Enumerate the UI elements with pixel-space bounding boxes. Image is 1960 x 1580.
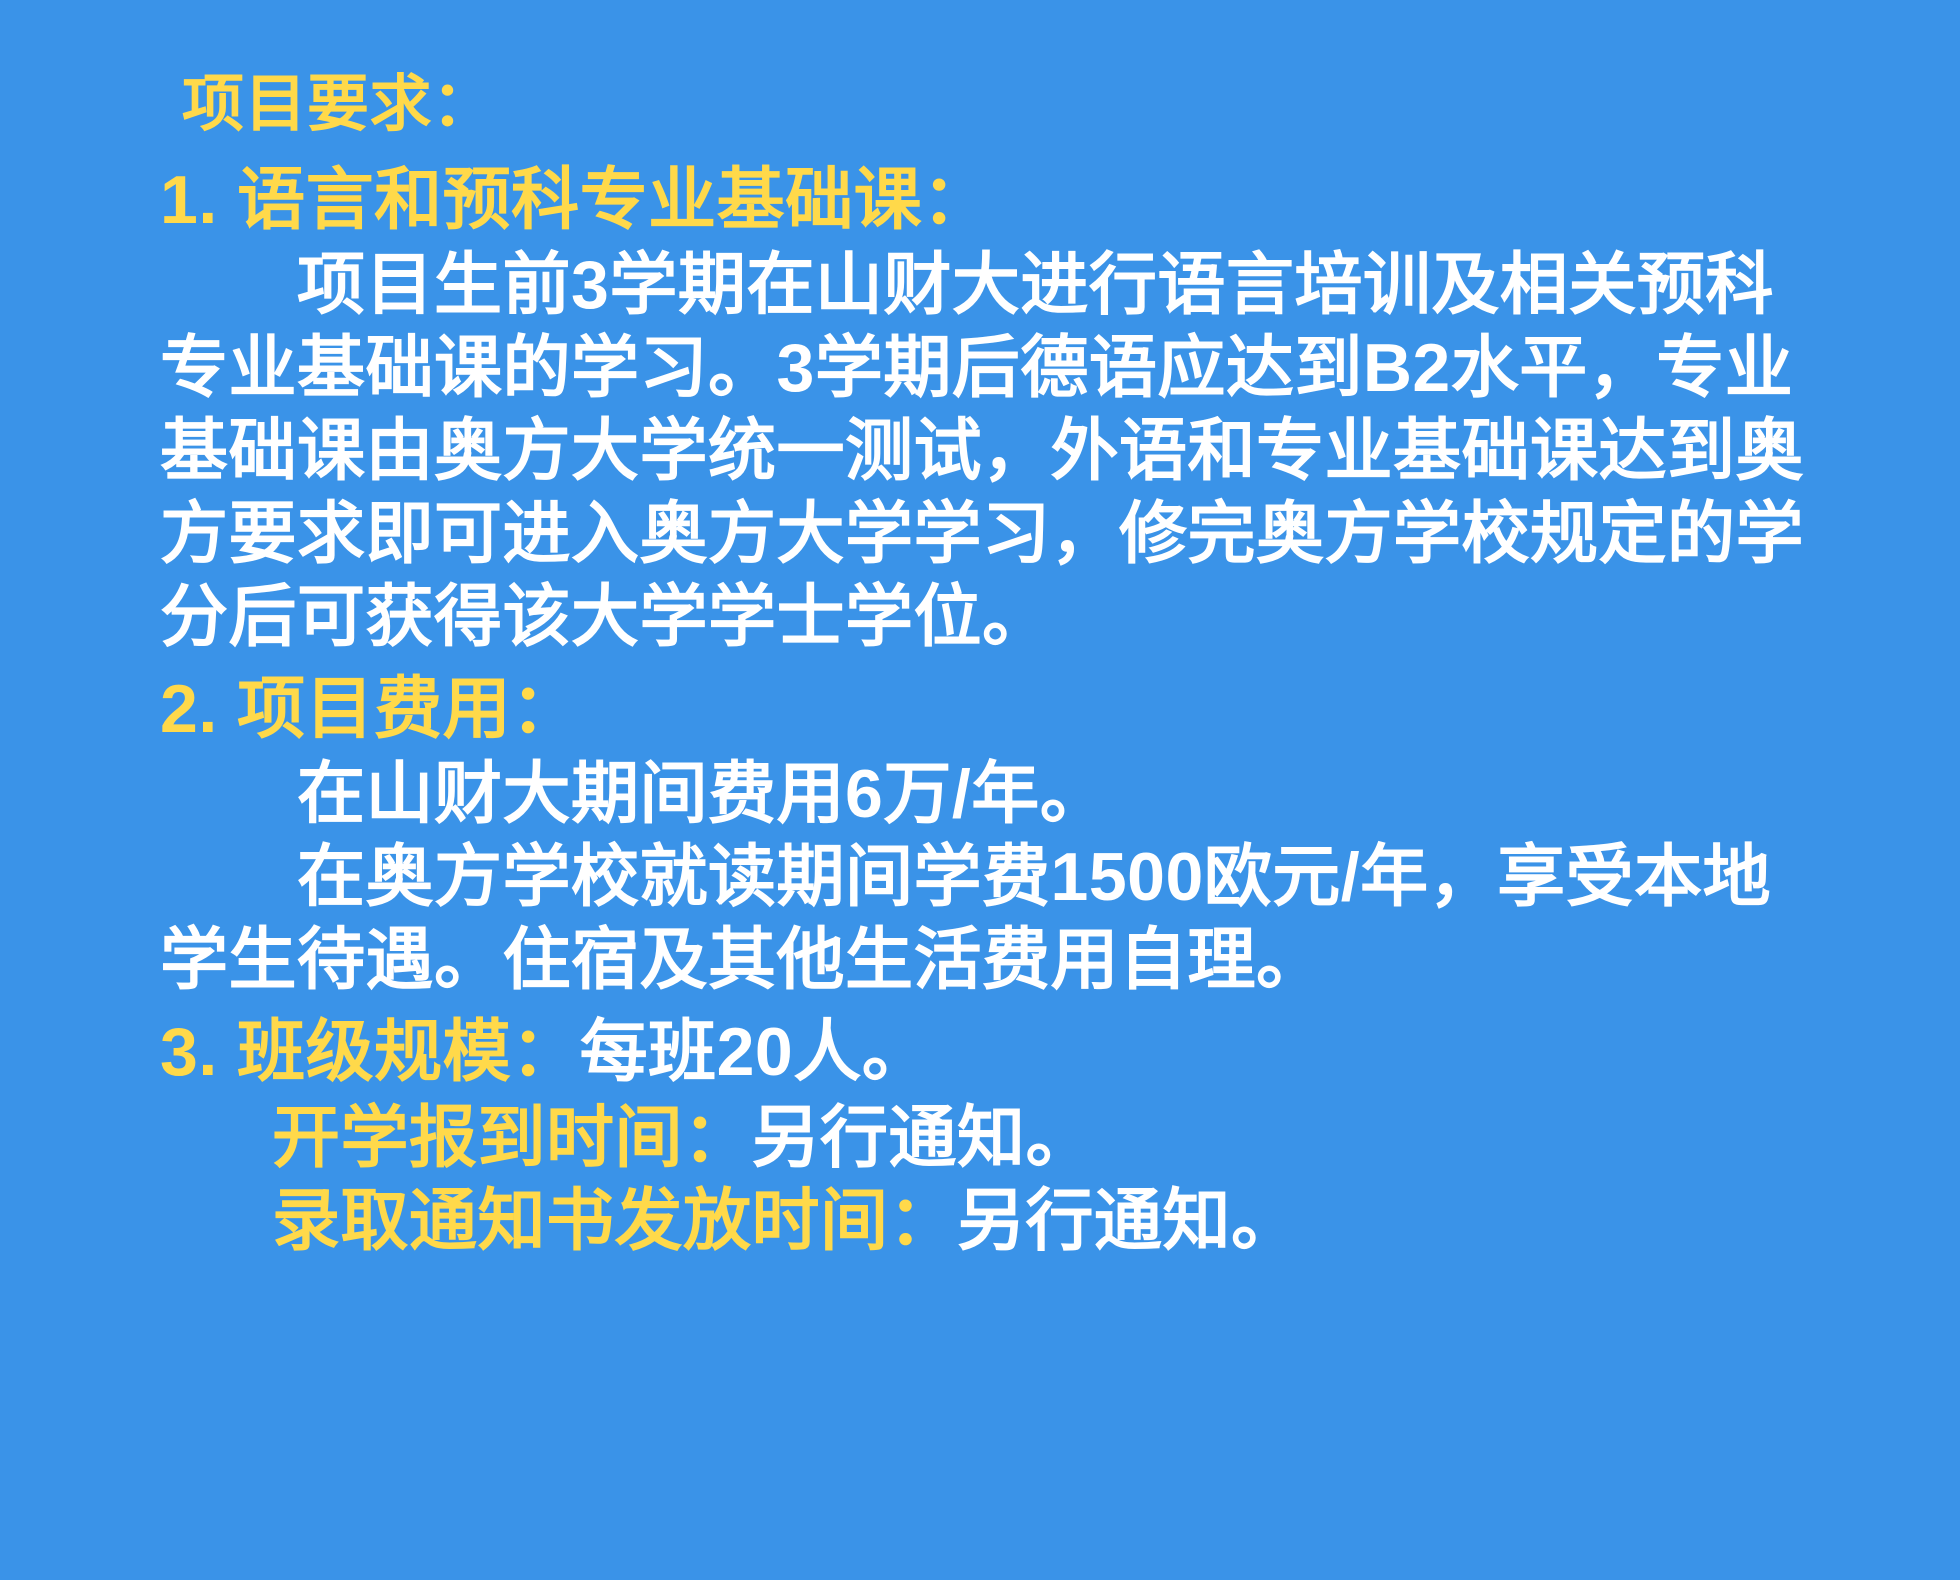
- note-1-value: 另行通知。: [752, 1100, 1095, 1176]
- section-3-heading-label: 3. 班级规模：: [160, 1014, 580, 1090]
- note-1-label: 开学报到时间：: [272, 1100, 752, 1176]
- section-2-body-line-1: 在山财大期间费用6万/年。: [160, 753, 1840, 836]
- section-3-heading-value: 每班20人。: [580, 1014, 931, 1090]
- section-1-body-line-3: 基础课由奥方大学统一测试，外语和专业基础课达到奥: [160, 410, 1840, 493]
- section-heading-1: 1. 语言和预科专业基础课：: [160, 156, 1840, 244]
- section-2-body-line-2: 在奥方学校就读期间学费1500欧元/年，享受本地: [160, 836, 1840, 919]
- section-1-body-line-1: 项目生前3学期在山财大进行语言培训及相关预科: [160, 244, 1840, 327]
- note-2-value: 另行通知。: [957, 1183, 1300, 1259]
- note-2-label: 录取通知书发放时间：: [272, 1183, 957, 1259]
- page-title: 项目要求：: [182, 60, 1840, 150]
- section-1-body-line-5: 分后可获得该大学学士学位。: [160, 576, 1840, 659]
- section-heading-3: 3. 班级规模：每班20人。: [160, 1008, 1840, 1096]
- section-1-body-line-2: 专业基础课的学习。3学期后德语应达到B2水平，专业: [160, 327, 1840, 410]
- section-heading-2: 2. 项目费用：: [160, 665, 1840, 753]
- note-row-1: 开学报到时间：另行通知。: [160, 1097, 1840, 1180]
- note-row-2: 录取通知书发放时间：另行通知。: [160, 1180, 1840, 1263]
- section-1-body-line-4: 方要求即可进入奥方大学学习，修完奥方学校规定的学: [160, 493, 1840, 576]
- slide-root: 项目要求： 1. 语言和预科专业基础课： 项目生前3学期在山财大进行语言培训及相…: [0, 0, 1960, 1580]
- section-2-body-line-3: 学生待遇。住宿及其他生活费用自理。: [160, 919, 1840, 1002]
